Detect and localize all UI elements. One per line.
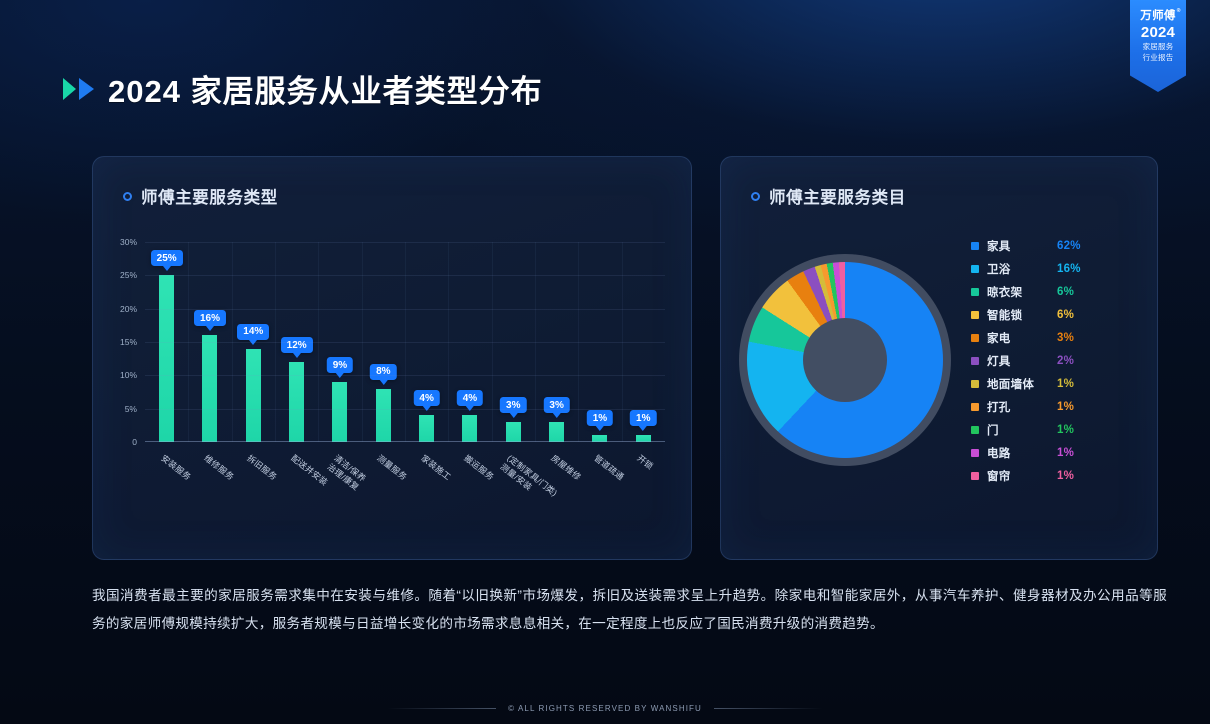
legend-swatch (971, 357, 979, 365)
bar-value-label: 3% (500, 397, 526, 413)
bar-card-title: 师傅主要服务类型 (141, 184, 278, 208)
bar-chart: 25%16%14%12%9%8%4%4%3%3%1%1% 05%10%15%20… (93, 232, 693, 532)
grid-vline (362, 242, 363, 442)
legend-swatch (971, 311, 979, 319)
y-axis-tick: 25% (120, 270, 137, 280)
circle-outline-icon (751, 192, 760, 201)
pie-card-title: 师傅主要服务类目 (769, 184, 906, 208)
legend-swatch (971, 403, 979, 411)
bar[interactable] (462, 415, 477, 442)
footer-rule-right (714, 708, 822, 709)
bar-value-label: 9% (327, 357, 353, 373)
legend-label: 门 (987, 422, 1049, 438)
grid-vline (188, 242, 189, 442)
bar-value-label: 16% (194, 310, 226, 326)
pie-chart: 家具62%卫浴16%晾衣架6%智能锁6%家电3%灯具2%地面墙体1%打孔1%门1… (721, 208, 1157, 485)
legend-value: 3% (1057, 332, 1074, 344)
bar[interactable] (506, 422, 521, 442)
bar[interactable] (289, 362, 304, 442)
legend-item[interactable]: 门1% (971, 420, 1081, 439)
legend-item[interactable]: 家电3% (971, 328, 1081, 347)
page-header: 2024 家居服务从业者类型分布 (63, 66, 543, 111)
legend-value: 1% (1057, 470, 1074, 482)
legend-item[interactable]: 打孔1% (971, 397, 1081, 416)
legend-label: 家具 (987, 238, 1049, 254)
x-label-cell: (定制家具/门类) 测量/安装 (492, 450, 535, 530)
bar-value-label: 4% (413, 390, 439, 406)
pie-chart-card: 师傅主要服务类目 家具62%卫浴16%晾衣架6%智能锁6%家电3%灯具2%地面墙… (720, 156, 1158, 560)
legend-value: 1% (1057, 378, 1074, 390)
badge-line2: 行业报告 (1143, 53, 1174, 62)
grid-vline (232, 242, 233, 442)
bar[interactable] (246, 349, 261, 442)
badge-brand: 万师傅® (1140, 7, 1175, 23)
x-label-cell: 搬运服务 (448, 450, 491, 530)
legend-item[interactable]: 灯具2% (971, 351, 1081, 370)
legend-label: 窗帘 (987, 468, 1049, 484)
bar-value-label: 4% (457, 390, 483, 406)
legend-value: 62% (1057, 240, 1081, 252)
legend-label: 家电 (987, 330, 1049, 346)
pie-legend: 家具62%卫浴16%晾衣架6%智能锁6%家电3%灯具2%地面墙体1%打孔1%门1… (957, 236, 1081, 485)
badge-year: 2024 (1141, 24, 1175, 41)
donut-graphic (739, 254, 951, 466)
footer-rule-left (388, 708, 496, 709)
legend-swatch (971, 334, 979, 342)
x-label-cell: 配送并安装 (275, 450, 318, 530)
bar[interactable] (159, 275, 174, 442)
legend-item[interactable]: 智能锁6% (971, 305, 1081, 324)
grid-vline (535, 242, 536, 442)
badge-brand-text: 万师傅 (1140, 10, 1175, 22)
x-label-cell: 开锁 (622, 450, 665, 530)
y-axis-tick: 0 (132, 437, 137, 447)
circle-outline-icon (123, 192, 132, 201)
legend-label: 地面墙体 (987, 376, 1049, 392)
bar[interactable] (202, 335, 217, 442)
x-axis-labels: 安装服务维修服务拆旧服务配送并安装清洁/保养 治理/康复测量服务家装施工搬运服务… (145, 450, 665, 530)
legend-item[interactable]: 地面墙体1% (971, 374, 1081, 393)
x-label-cell: 拆旧服务 (232, 450, 275, 530)
x-label-cell: 家装施工 (405, 450, 448, 530)
bar-value-label: 12% (281, 337, 313, 353)
legend-swatch (971, 426, 979, 434)
bar-card-header: 师傅主要服务类型 (93, 157, 691, 208)
pie-card-header: 师傅主要服务类目 (721, 157, 1157, 208)
legend-label: 晾衣架 (987, 284, 1049, 300)
grid-vline (492, 242, 493, 442)
legend-item[interactable]: 晾衣架6% (971, 282, 1081, 301)
bar-value-label: 8% (370, 364, 396, 380)
footer-copyright: © ALL RIGHTS RESERVED BY WANSHIFU (508, 704, 702, 713)
legend-item[interactable]: 卫浴16% (971, 259, 1081, 278)
bar[interactable] (549, 422, 564, 442)
footer: © ALL RIGHTS RESERVED BY WANSHIFU (0, 704, 1210, 713)
legend-label: 打孔 (987, 399, 1049, 415)
legend-label: 灯具 (987, 353, 1049, 369)
grid-vline (448, 242, 449, 442)
legend-value: 6% (1057, 286, 1074, 298)
bar[interactable] (332, 382, 347, 442)
legend-item[interactable]: 电路1% (971, 443, 1081, 462)
x-label-cell: 测量服务 (362, 450, 405, 530)
x-label-cell: 维修服务 (188, 450, 231, 530)
x-label-cell: 管道疏通 (578, 450, 621, 530)
grid-vline (405, 242, 406, 442)
page-title: 2024 家居服务从业者类型分布 (108, 66, 543, 111)
grid-vline (318, 242, 319, 442)
bar-value-label: 25% (151, 250, 183, 266)
legend-label: 智能锁 (987, 307, 1049, 323)
bar-value-label: 1% (630, 410, 656, 426)
bar-value-label: 3% (543, 397, 569, 413)
badge-line1: 家居服务 (1143, 42, 1174, 51)
legend-value: 1% (1057, 447, 1074, 459)
charts-container: 师傅主要服务类型 25%16%14%12%9%8%4%4%3%3%1%1% 05… (92, 156, 1158, 560)
y-axis-tick: 5% (125, 404, 137, 414)
legend-swatch (971, 288, 979, 296)
y-axis-tick: 10% (120, 370, 137, 380)
legend-label: 电路 (987, 445, 1049, 461)
grid-vline (622, 242, 623, 442)
legend-value: 1% (1057, 401, 1074, 413)
legend-item[interactable]: 家具62% (971, 236, 1081, 255)
x-axis-label: 开锁 (635, 453, 655, 472)
donut-center-hole (803, 318, 887, 402)
grid-vline (275, 242, 276, 442)
y-axis-tick: 15% (120, 337, 137, 347)
summary-text: 我国消费者最主要的家居服务需求集中在安装与维修。随着“以旧换新”市场爆发，拆旧及… (92, 582, 1167, 638)
bar-chart-card: 师傅主要服务类型 25%16%14%12%9%8%4%4%3%3%1%1% 05… (92, 156, 692, 560)
legend-swatch (971, 242, 979, 250)
y-axis-tick: 30% (120, 237, 137, 247)
y-axis-tick: 20% (120, 304, 137, 314)
bar[interactable] (419, 415, 434, 442)
legend-label: 卫浴 (987, 261, 1049, 277)
x-label-cell: 房屋维修 (535, 450, 578, 530)
legend-swatch (971, 449, 979, 457)
badge-trademark: ® (1177, 8, 1181, 14)
double-triangle-icon (63, 78, 94, 100)
legend-value: 6% (1057, 309, 1074, 321)
bar[interactable] (376, 389, 391, 442)
legend-swatch (971, 380, 979, 388)
report-badge: 万师傅® 2024 家居服务 行业报告 (1130, 0, 1186, 92)
bar-plot-area: 25%16%14%12%9%8%4%4%3%3%1%1% 05%10%15%20… (145, 242, 665, 442)
legend-value: 1% (1057, 424, 1074, 436)
bar-value-label: 1% (587, 410, 613, 426)
legend-value: 16% (1057, 263, 1081, 275)
slide-root: 万师傅® 2024 家居服务 行业报告 2024 家居服务从业者类型分布 师傅主… (0, 0, 1210, 724)
legend-item[interactable]: 窗帘1% (971, 466, 1081, 485)
grid-vline (578, 242, 579, 442)
legend-value: 2% (1057, 355, 1074, 367)
bar-value-label: 14% (237, 324, 269, 340)
legend-swatch (971, 265, 979, 273)
legend-swatch (971, 472, 979, 480)
x-label-cell: 安装服务 (145, 450, 188, 530)
x-label-cell: 清洁/保养 治理/康复 (318, 450, 361, 530)
